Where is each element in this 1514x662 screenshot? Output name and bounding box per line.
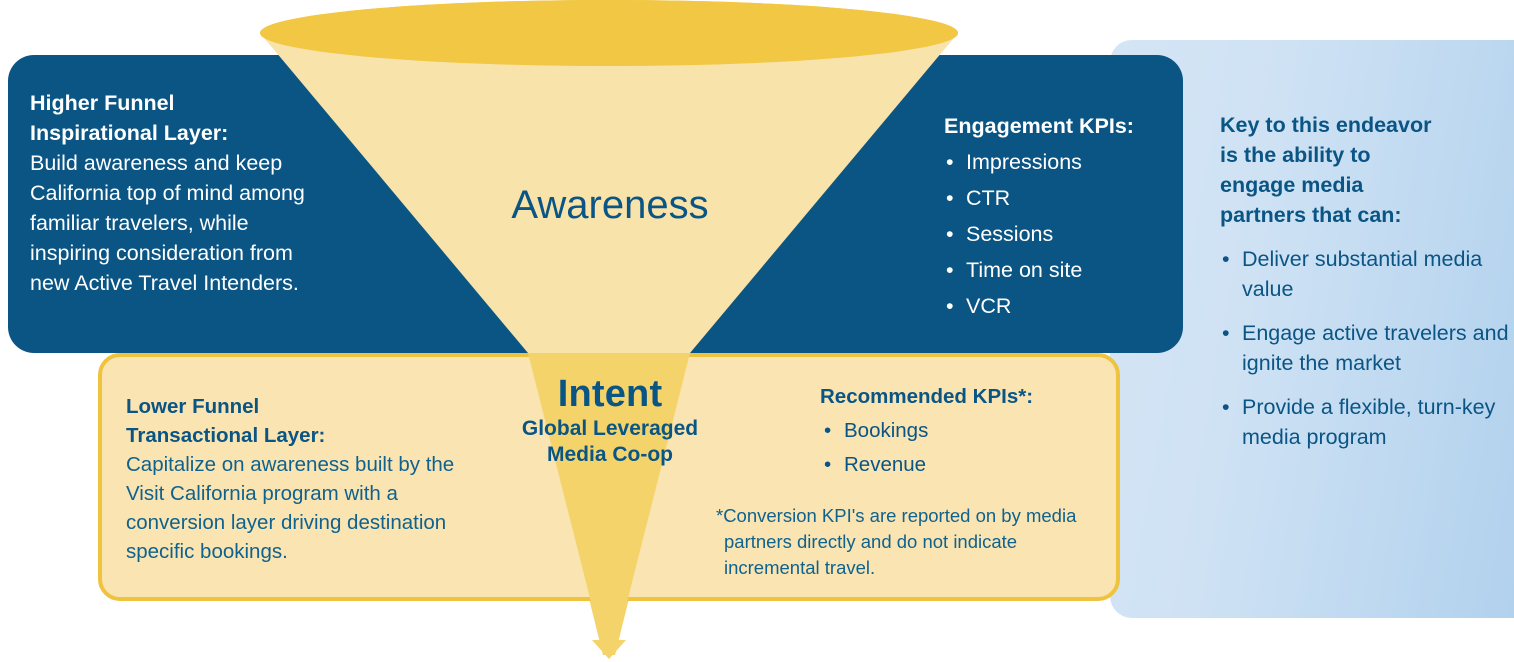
higher-funnel-body: Build awareness and keep California top …: [30, 148, 330, 298]
list-item: Engage active travelers and ignite the m…: [1242, 318, 1510, 378]
intent-sub-line2: Media Co-op: [460, 442, 760, 468]
list-item: Provide a flexible, turn-key media progr…: [1242, 392, 1510, 452]
engagement-kpis-block: Engagement KPIs: Impressions CTR Session…: [944, 108, 1174, 324]
key-heading-line4: partners that can:: [1220, 200, 1510, 230]
key-heading-line3: engage media: [1220, 170, 1510, 200]
list-item: VCR: [966, 288, 1174, 324]
list-item: Bookings: [844, 414, 1090, 448]
funnel-diagram-canvas: Higher Funnel Inspirational Layer: Build…: [0, 0, 1514, 662]
recommended-kpis-list: Bookings Revenue: [820, 414, 1090, 482]
intent-stage-label: Intent: [460, 372, 760, 416]
lower-funnel-text-block: Lower Funnel Transactional Layer: Capita…: [126, 392, 496, 566]
list-item: Sessions: [966, 216, 1174, 252]
list-item: Deliver substantial media value: [1242, 244, 1510, 304]
list-item: Revenue: [844, 448, 1090, 482]
key-considerations-heading: Key to this endeavor is the ability to e…: [1220, 110, 1510, 230]
lower-funnel-body: Capitalize on awareness built by the Vis…: [126, 450, 496, 566]
higher-funnel-heading-line1: Higher Funnel: [30, 88, 330, 118]
funnel-tip-overlay: [598, 630, 620, 658]
engagement-kpis-heading: Engagement KPIs:: [944, 108, 1174, 144]
lower-funnel-heading-line1: Lower Funnel: [126, 392, 496, 421]
list-item: CTR: [966, 180, 1174, 216]
engagement-kpis-list: Impressions CTR Sessions Time on site VC…: [944, 144, 1174, 324]
list-item: Time on site: [966, 252, 1174, 288]
higher-funnel-heading-line2: Inspirational Layer:: [30, 118, 330, 148]
key-heading-line2: is the ability to: [1220, 140, 1510, 170]
funnel-tip: [592, 640, 626, 659]
key-heading-line1: Key to this endeavor: [1220, 110, 1510, 140]
key-considerations-list: Deliver substantial media value Engage a…: [1220, 244, 1510, 452]
lower-funnel-heading-line2: Transactional Layer:: [126, 421, 496, 450]
recommended-kpis-block: Recommended KPIs*: Bookings Revenue: [820, 380, 1090, 482]
list-item: Impressions: [966, 144, 1174, 180]
conversion-kpi-footnote: *Conversion KPI's are reported on by med…: [716, 503, 1114, 581]
higher-funnel-text-block: Higher Funnel Inspirational Layer: Build…: [30, 88, 330, 298]
awareness-stage-label: Awareness: [380, 182, 840, 228]
intent-sub-line1: Global Leveraged: [460, 416, 760, 442]
intent-stage-label-block: Intent Global Leveraged Media Co-op: [460, 372, 760, 468]
key-considerations-text-block: Key to this endeavor is the ability to e…: [1220, 110, 1510, 466]
recommended-kpis-heading: Recommended KPIs*:: [820, 380, 1090, 414]
